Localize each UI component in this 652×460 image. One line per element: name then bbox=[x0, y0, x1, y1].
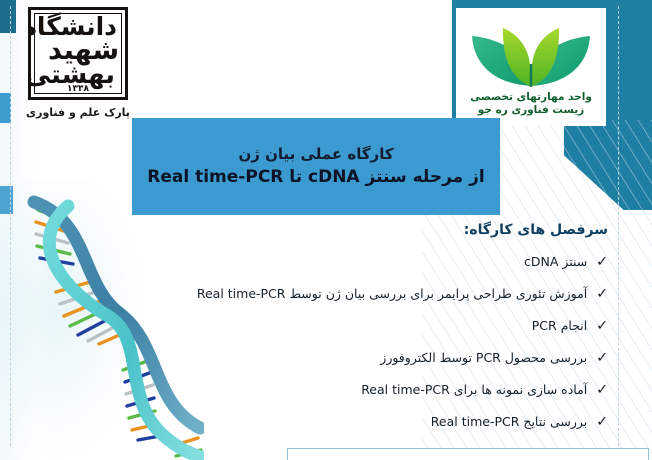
check-icon: ✓ bbox=[596, 254, 608, 270]
list-item: ✓ بررسی نتایج Real time-PCR bbox=[48, 414, 608, 430]
check-icon: ✓ bbox=[596, 286, 608, 302]
check-icon: ✓ bbox=[596, 318, 608, 334]
list-item: ✓ انجام PCR bbox=[48, 318, 608, 334]
check-icon: ✓ bbox=[596, 382, 608, 398]
leaf-book-icon bbox=[456, 14, 606, 90]
syllabus-item-label: آماده سازی نمونه ها برای Real time-PCR bbox=[361, 383, 587, 397]
workshop-title-line-2: از مرحله سنتز cDNA تا Real time-PCR bbox=[147, 167, 484, 188]
syllabus-item-label: بررسی محصول PCR توسط الکتروفورز bbox=[380, 351, 587, 365]
bottom-framed-box bbox=[287, 448, 649, 460]
syllabus-heading: سرفصل های کارگاه: bbox=[464, 222, 608, 238]
university-logo-year: ۱۳۳۸ bbox=[67, 85, 89, 94]
right-white-diagonal-wedge bbox=[532, 126, 652, 236]
list-item: ✓ بررسی محصول PCR توسط الکتروفورز bbox=[48, 350, 608, 366]
check-icon: ✓ bbox=[596, 350, 608, 366]
syllabus-item-label: انجام PCR bbox=[532, 319, 588, 333]
university-logo-caption: پارک علم و فناوری bbox=[19, 106, 137, 119]
university-logo: دانشگاه شهید بهشتی ۱۳۳۸ پارک علم و فناور… bbox=[19, 7, 137, 119]
syllabus-item-label: بررسی نتایج Real time-PCR bbox=[431, 415, 587, 429]
syllabus-item-label: آموزش تئوری طراحی پرایمر برای بررسی بیان… bbox=[197, 287, 587, 301]
workshop-title-line-1: کارگاه عملی بیان ژن bbox=[238, 145, 393, 163]
university-logo-calligraphy: دانشگاه شهید بهشتی ۱۳۳۸ bbox=[31, 10, 125, 97]
right-teal-block bbox=[564, 126, 652, 210]
partner-logo-caption: واحد مهارتهای تخصصی زیست فناوری ره جو bbox=[456, 91, 606, 117]
title-banner: کارگاه عملی بیان ژن از مرحله سنتز cDNA ت… bbox=[132, 118, 500, 215]
check-icon: ✓ bbox=[596, 414, 608, 430]
list-item: ✓ آماده سازی نمونه ها برای Real time-PCR bbox=[48, 382, 608, 398]
top-left-corner-chip bbox=[0, 0, 16, 33]
list-item: ✓ سنتز cDNA bbox=[48, 254, 608, 270]
partner-caption-line-2: زیست فناوری ره جو bbox=[456, 104, 606, 117]
presentation-slide: دانشگاه شهید بهشتی ۱۳۳۸ پارک علم و فناور… bbox=[0, 0, 652, 460]
list-item: ✓ آموزش تئوری طراحی پرایمر برای بررسی بی… bbox=[48, 286, 608, 302]
university-logo-mark: دانشگاه شهید بهشتی ۱۳۳۸ bbox=[28, 7, 128, 100]
syllabus-item-label: سنتز cDNA bbox=[524, 255, 587, 269]
left-middle-blue-chip bbox=[0, 93, 11, 123]
partner-logo-card: واحد مهارتهای تخصصی زیست فناوری ره جو bbox=[456, 8, 606, 126]
syllabus-list: ✓ سنتز cDNA ✓ آموزش تئوری طراحی پرایمر ب… bbox=[48, 254, 608, 447]
right-dashed-rule bbox=[618, 6, 619, 446]
partner-caption-line-1: واحد مهارتهای تخصصی bbox=[456, 91, 606, 104]
